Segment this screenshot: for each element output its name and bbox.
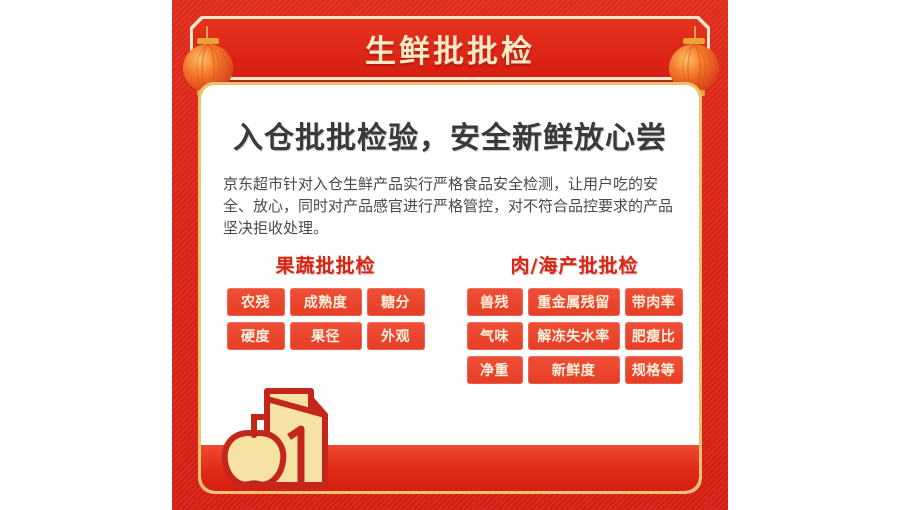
tag-row: 兽残 重金属残留 带肉率 [450, 288, 699, 316]
tag-item[interactable]: 重金属残留 [528, 288, 620, 316]
tag-item[interactable]: 净重 [467, 356, 523, 384]
category-column-meat-seafood: 肉/海产批批检 兽残 重金属残留 带肉率 气味 解冻失水率 肥瘦比 净重 新鲜度 [450, 251, 699, 390]
banner-plaque: 生鲜批批检 [172, 12, 728, 88]
tag-item[interactable]: 果径 [290, 322, 362, 350]
description-paragraph: 京东超市针对入仓生鲜产品实行严格食品安全检测，让用户吃的安全、放心，同时对产品感… [223, 173, 677, 239]
tag-item[interactable]: 外观 [367, 322, 425, 350]
tag-item[interactable]: 解冻失水率 [528, 322, 620, 350]
tag-row: 硬度 果径 外观 [201, 322, 450, 350]
tag-row: 气味 解冻失水率 肥瘦比 [450, 322, 699, 350]
apple-and-milk-carton-icon [215, 385, 385, 491]
column-title-meat-seafood: 肉/海产批批检 [450, 251, 699, 278]
tag-item[interactable]: 气味 [467, 322, 523, 350]
poster-canvas: 生鲜批批检 [0, 0, 900, 510]
category-columns: 果蔬批批检 农残 成熟度 糖分 硬度 果径 外观 肉/海产批批检 [201, 251, 699, 390]
tag-item[interactable]: 肥瘦比 [625, 322, 683, 350]
page-title: 入仓批批检验，安全新鲜放心尝 [201, 113, 699, 157]
tag-item[interactable]: 硬度 [227, 322, 285, 350]
tag-item[interactable]: 农残 [227, 288, 285, 316]
content-card: jd 入仓批批检验，安全新鲜放心尝 京东超市针对入仓生鲜产品实行严格食品安全检测… [201, 85, 699, 491]
tag-item[interactable]: 新鲜度 [528, 356, 620, 384]
red-poster-panel: 生鲜批批检 [172, 0, 728, 510]
tag-item[interactable]: 成熟度 [290, 288, 362, 316]
tag-row: 净重 新鲜度 规格等 [450, 356, 699, 384]
plaque-body: 生鲜批批检 [193, 19, 707, 77]
tag-item[interactable]: 兽残 [467, 288, 523, 316]
column-title-fruit-vegetable: 果蔬批批检 [201, 251, 450, 278]
tag-item[interactable]: 规格等 [625, 356, 683, 384]
banner-title: 生鲜批批检 [365, 26, 535, 71]
tag-item[interactable]: 糖分 [367, 288, 425, 316]
tag-row: 农残 成熟度 糖分 [201, 288, 450, 316]
category-column-fruit-vegetable: 果蔬批批检 农残 成熟度 糖分 硬度 果径 外观 [201, 251, 450, 390]
tag-item[interactable]: 带肉率 [625, 288, 683, 316]
